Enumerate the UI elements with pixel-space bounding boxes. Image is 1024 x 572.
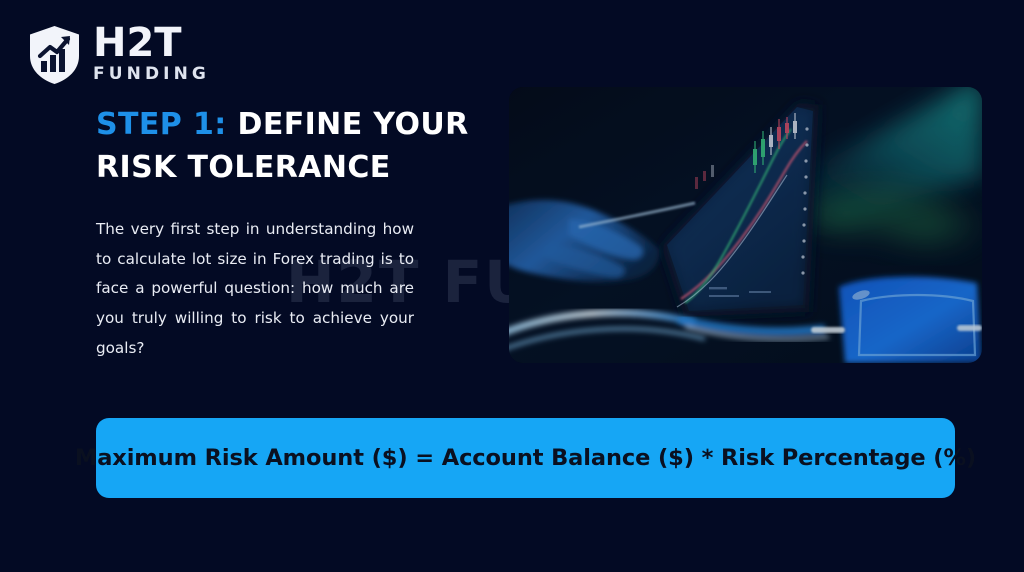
slide-canvas: H2T FUNDING H2T FUNDING STEP 1: DEFINE Y…: [0, 0, 1024, 572]
brand-logo: H2T FUNDING: [27, 24, 210, 85]
step-label: STEP 1:: [96, 107, 227, 142]
brand-name-primary: H2T: [93, 24, 210, 62]
brand-logo-text: H2T FUNDING: [93, 24, 210, 85]
brand-name-secondary: FUNDING: [93, 64, 210, 85]
trading-photo-illustration: [509, 87, 982, 363]
page-title: STEP 1: DEFINE YOUR RISK TOLERANCE: [96, 104, 496, 189]
trading-photo: [509, 87, 982, 363]
body-paragraph: The very first step in understanding how…: [96, 215, 414, 393]
formula-text: Maximum Risk Amount ($) = Account Balanc…: [75, 445, 976, 471]
formula-banner: Maximum Risk Amount ($) = Account Balanc…: [96, 418, 955, 498]
shield-growth-chart-icon: [27, 25, 82, 85]
shield-growth-chart-icon-svg: [27, 25, 82, 85]
